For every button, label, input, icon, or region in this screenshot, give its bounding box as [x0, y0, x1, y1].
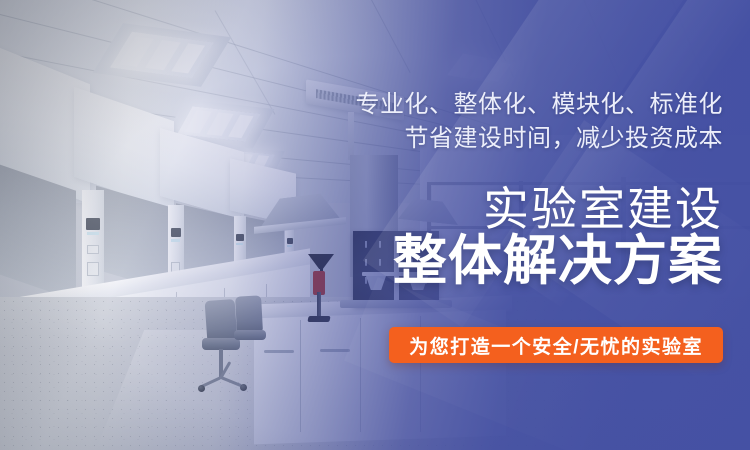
subheadline-line-1: 专业化、整体化、模块化、标准化: [356, 88, 724, 122]
subheadline-line-2: 节省建设时间，减少投资成本: [405, 122, 724, 156]
cta-button[interactable]: 为您打造一个安全/无忧的实验室: [389, 327, 723, 363]
headline-primary: 实验室建设: [483, 184, 723, 234]
headline-secondary: 整体解决方案: [393, 231, 723, 291]
lab-solution-banner: 专业化、整体化、模块化、标准化 节省建设时间，减少投资成本 实验室建设 整体解决…: [0, 0, 750, 450]
banner-content: 专业化、整体化、模块化、标准化 节省建设时间，减少投资成本 实验室建设 整体解决…: [303, 0, 723, 450]
